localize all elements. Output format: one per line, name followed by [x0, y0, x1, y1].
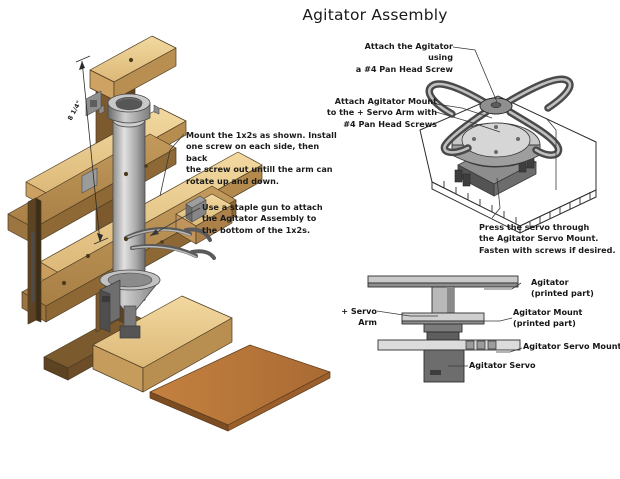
diagram-page: Agitator Assembly [0, 0, 620, 479]
label-agitator-mount: Agitator Mount (printed part) [513, 307, 617, 329]
callout-attach-agitator: Attach the Agitator using a #4 Pan Head … [339, 41, 453, 75]
label-agitator-servo-mount: Agitator Servo Mount [523, 341, 620, 352]
callout-mount-1x2s: Mount the 1x2s as shown. Install one scr… [186, 130, 338, 187]
section-leader-lines [377, 283, 522, 366]
dimension-line [76, 56, 108, 244]
dimension-label: 8 1/4" [66, 99, 83, 122]
agitator-3d-art [420, 79, 596, 233]
label-agitator: Agitator (printed part) [531, 277, 620, 299]
label-agitator-servo: Agitator Servo [469, 360, 559, 371]
right-leader-lines [436, 47, 556, 218]
callout-press-servo: Press the servo through the Agitator Ser… [479, 222, 619, 256]
page-title: Agitator Assembly [0, 6, 620, 24]
callout-staple-gun: Use a staple gun to attach the Agitator … [202, 202, 342, 236]
page-title-text: Agitator Assembly [302, 6, 447, 24]
label-servo-arm: + Servo Arm [321, 306, 377, 328]
callout-attach-agitator-mount: Attach Agitator Mount to the + Servo Arm… [323, 96, 437, 130]
